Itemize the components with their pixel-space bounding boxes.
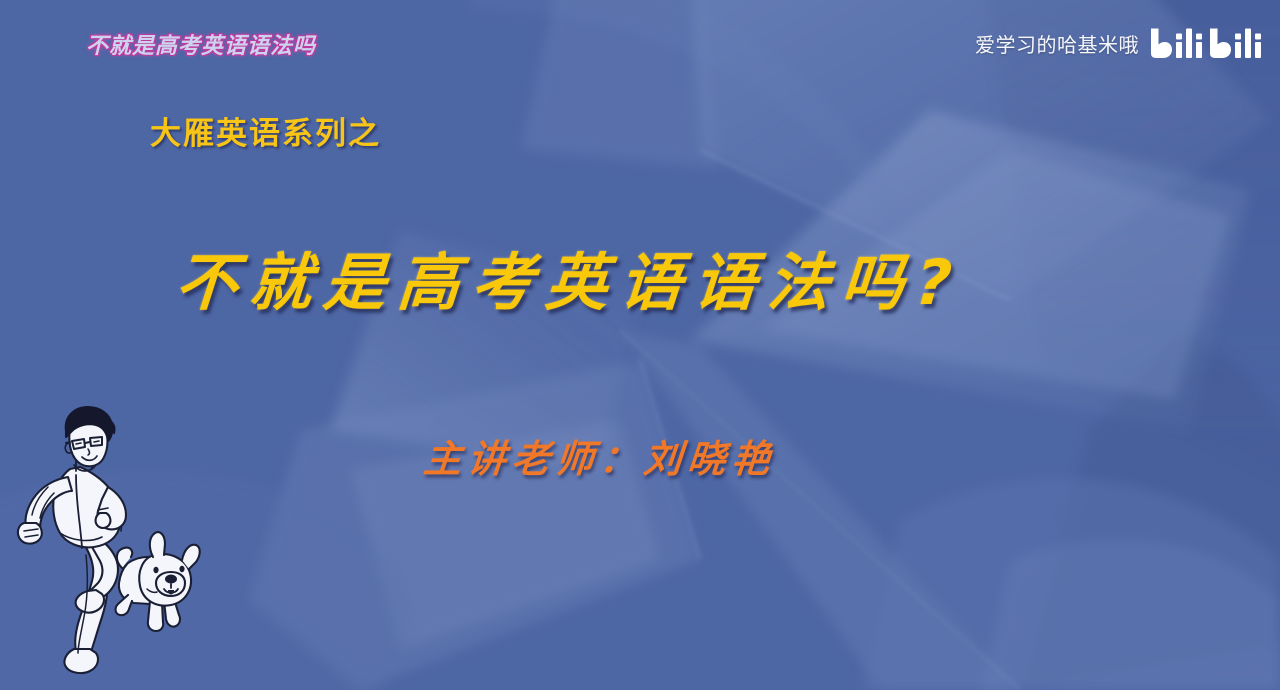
channel-watermark-left: 不就是高考英语语法吗 <box>86 28 316 60</box>
page-title: 不就是高考英语语法吗? <box>173 232 967 322</box>
bilibili-logo-icon <box>1148 26 1266 60</box>
uploader-watermark: 爱学习的哈基米哦 <box>975 26 1266 60</box>
presenter-name-line: 主讲老师：刘晓艳 <box>422 428 779 483</box>
uploader-name: 爱学习的哈基米哦 <box>975 29 1139 58</box>
dog-figure <box>116 532 200 631</box>
video-title-slide: 不就是高考英语语法吗 爱学习的哈基米哦 <box>0 0 1280 690</box>
jogger-figure <box>18 407 126 673</box>
running-person-with-dog-illustration <box>4 405 224 690</box>
series-label: 大雁英语系列之 <box>150 108 381 153</box>
